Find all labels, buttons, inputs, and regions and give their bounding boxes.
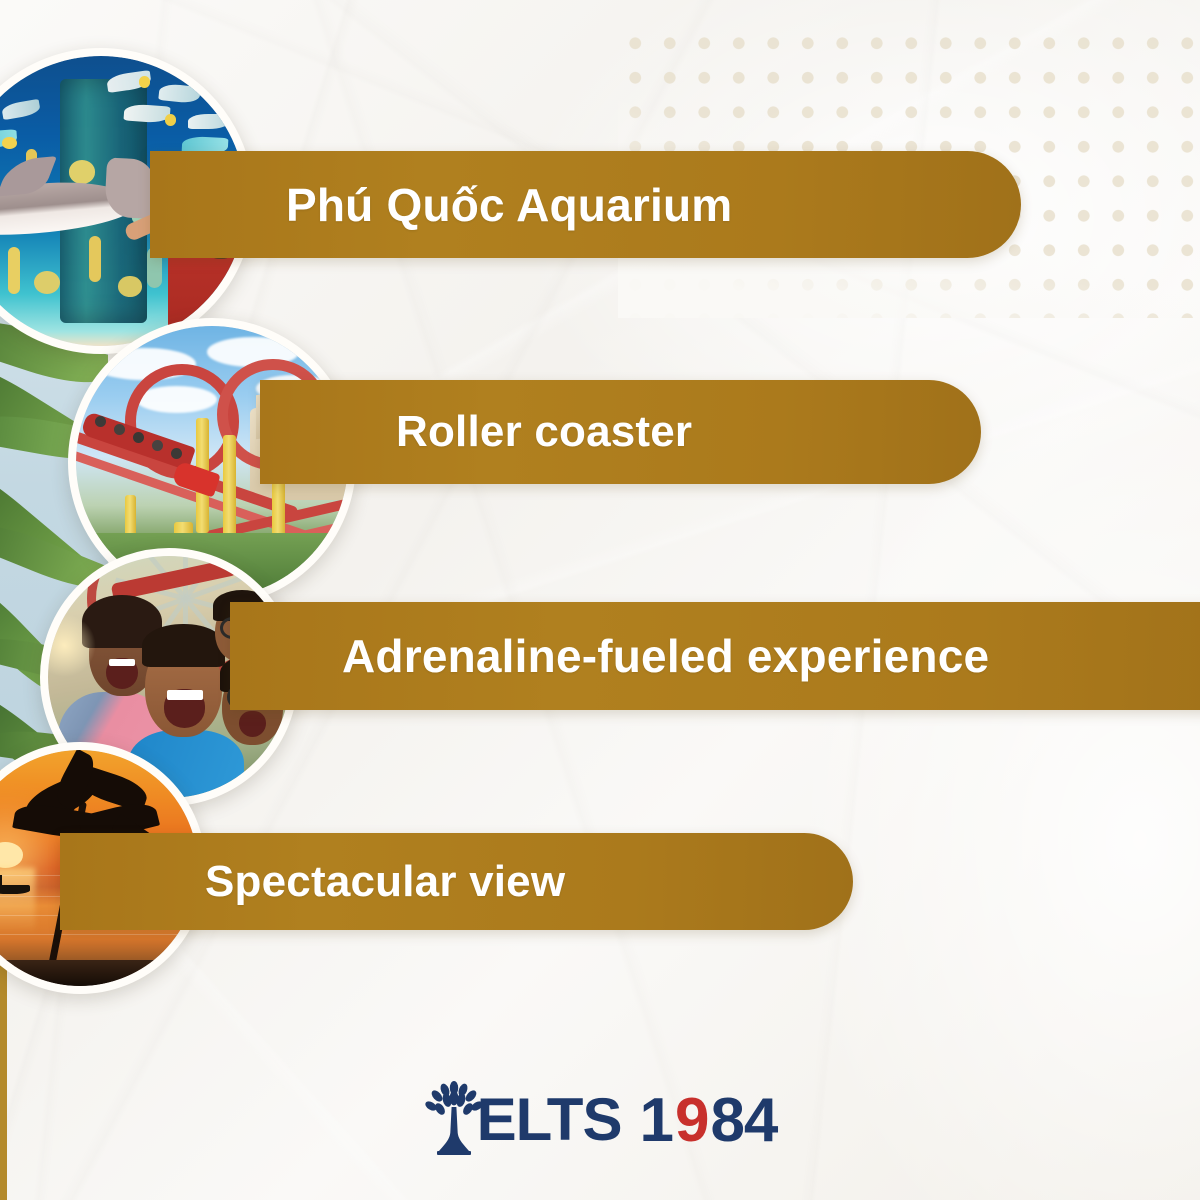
coral-icon: [8, 247, 20, 293]
coral-icon: [118, 276, 141, 296]
boat-icon: [0, 885, 30, 894]
boat-mast-icon: [0, 875, 2, 887]
fish-fin-icon: [2, 137, 17, 149]
coral-icon: [69, 160, 95, 183]
woman-teeth: [109, 659, 136, 666]
fish-icon: [1, 99, 41, 120]
label-bar-1[interactable]: Phú Quốc Aquarium: [150, 151, 1021, 258]
boy-teeth: [167, 690, 203, 700]
label-bar-1-text: Phú Quốc Aquarium: [286, 178, 732, 232]
fish-fin-icon: [165, 114, 177, 126]
rider-icon: [133, 432, 144, 443]
support-pillar: [223, 435, 237, 544]
coral-icon: [89, 236, 101, 282]
logo-number-prefix: 1: [639, 1085, 672, 1156]
label-bar-4-text: Spectacular view: [205, 857, 565, 907]
logo-number-accent: 9: [675, 1085, 708, 1156]
boy-hair: [142, 624, 224, 668]
shark-fin-icon: [0, 156, 57, 197]
coral-icon: [34, 271, 60, 294]
tree-icon: [423, 1081, 485, 1159]
sun-reflection: [0, 868, 35, 934]
label-bar-3-text: Adrenaline-fueled experience: [342, 629, 989, 683]
label-bar-2[interactable]: Roller coaster: [260, 380, 981, 484]
rider-icon: [114, 424, 125, 435]
shoreline: [0, 960, 198, 986]
rider-icon: [95, 416, 106, 427]
fish-fin-icon: [139, 76, 151, 88]
label-bar-2-text: Roller coaster: [396, 407, 692, 457]
fish-icon: [158, 83, 200, 105]
logo-word: ELTS: [477, 1090, 622, 1150]
fish-icon: [188, 114, 229, 129]
label-bar-3[interactable]: Adrenaline-fueled experience: [230, 602, 1200, 710]
sun-icon: [0, 842, 23, 868]
label-bar-4[interactable]: Spectacular view: [60, 833, 853, 930]
logo-number-suffix: 84: [710, 1085, 777, 1156]
brand-logo[interactable]: ELTS 1 9 84: [0, 1070, 1200, 1170]
poster-canvas: Phú Quốc Aquarium Roller coaster Adrenal…: [0, 0, 1200, 1200]
